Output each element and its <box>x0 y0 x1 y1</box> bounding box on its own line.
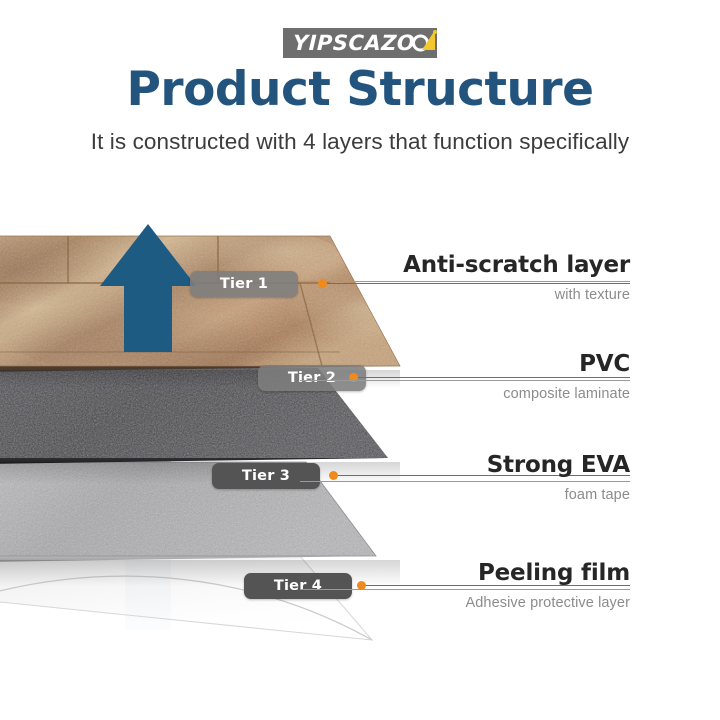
label-sub-tier-2: composite laminate <box>300 386 630 402</box>
label-title-tier-1: Anti-scratch layer <box>403 252 630 278</box>
label-rule-3 <box>300 481 630 482</box>
label-title-text-2: PVC <box>579 351 630 377</box>
product-structure-infographic: YIPSCAZO Product Structure It is constru… <box>0 0 720 720</box>
label-rule-2 <box>300 380 630 381</box>
label-block-tier-4: Peeling film Adhesive protective layer <box>300 560 630 611</box>
label-rule-1 <box>300 281 630 282</box>
label-title-text-3: Strong EVA <box>487 452 630 478</box>
label-title-tier-4: Peeling film <box>478 560 630 586</box>
label-title-text-1: Anti-scratch layer <box>403 252 630 278</box>
label-sub-tier-3: foam tape <box>300 487 630 503</box>
tier-3-badge-label: Tier 3 <box>242 468 290 484</box>
label-rule-4 <box>300 589 630 590</box>
label-block-tier-2: PVC composite laminate <box>300 351 630 402</box>
label-sub-tier-1: with texture <box>300 287 630 303</box>
tier-1-badge[interactable]: Tier 1 <box>190 271 298 297</box>
label-sub-tier-4: Adhesive protective layer <box>300 595 630 611</box>
label-block-tier-3: Strong EVA foam tape <box>300 452 630 503</box>
label-title-tier-3: Strong EVA <box>487 452 630 478</box>
tier-1-badge-label: Tier 1 <box>220 276 268 292</box>
label-title-tier-2: PVC <box>579 351 630 377</box>
label-title-text-4: Peeling film <box>478 560 630 586</box>
label-block-tier-1: Anti-scratch layer with texture <box>300 252 630 303</box>
